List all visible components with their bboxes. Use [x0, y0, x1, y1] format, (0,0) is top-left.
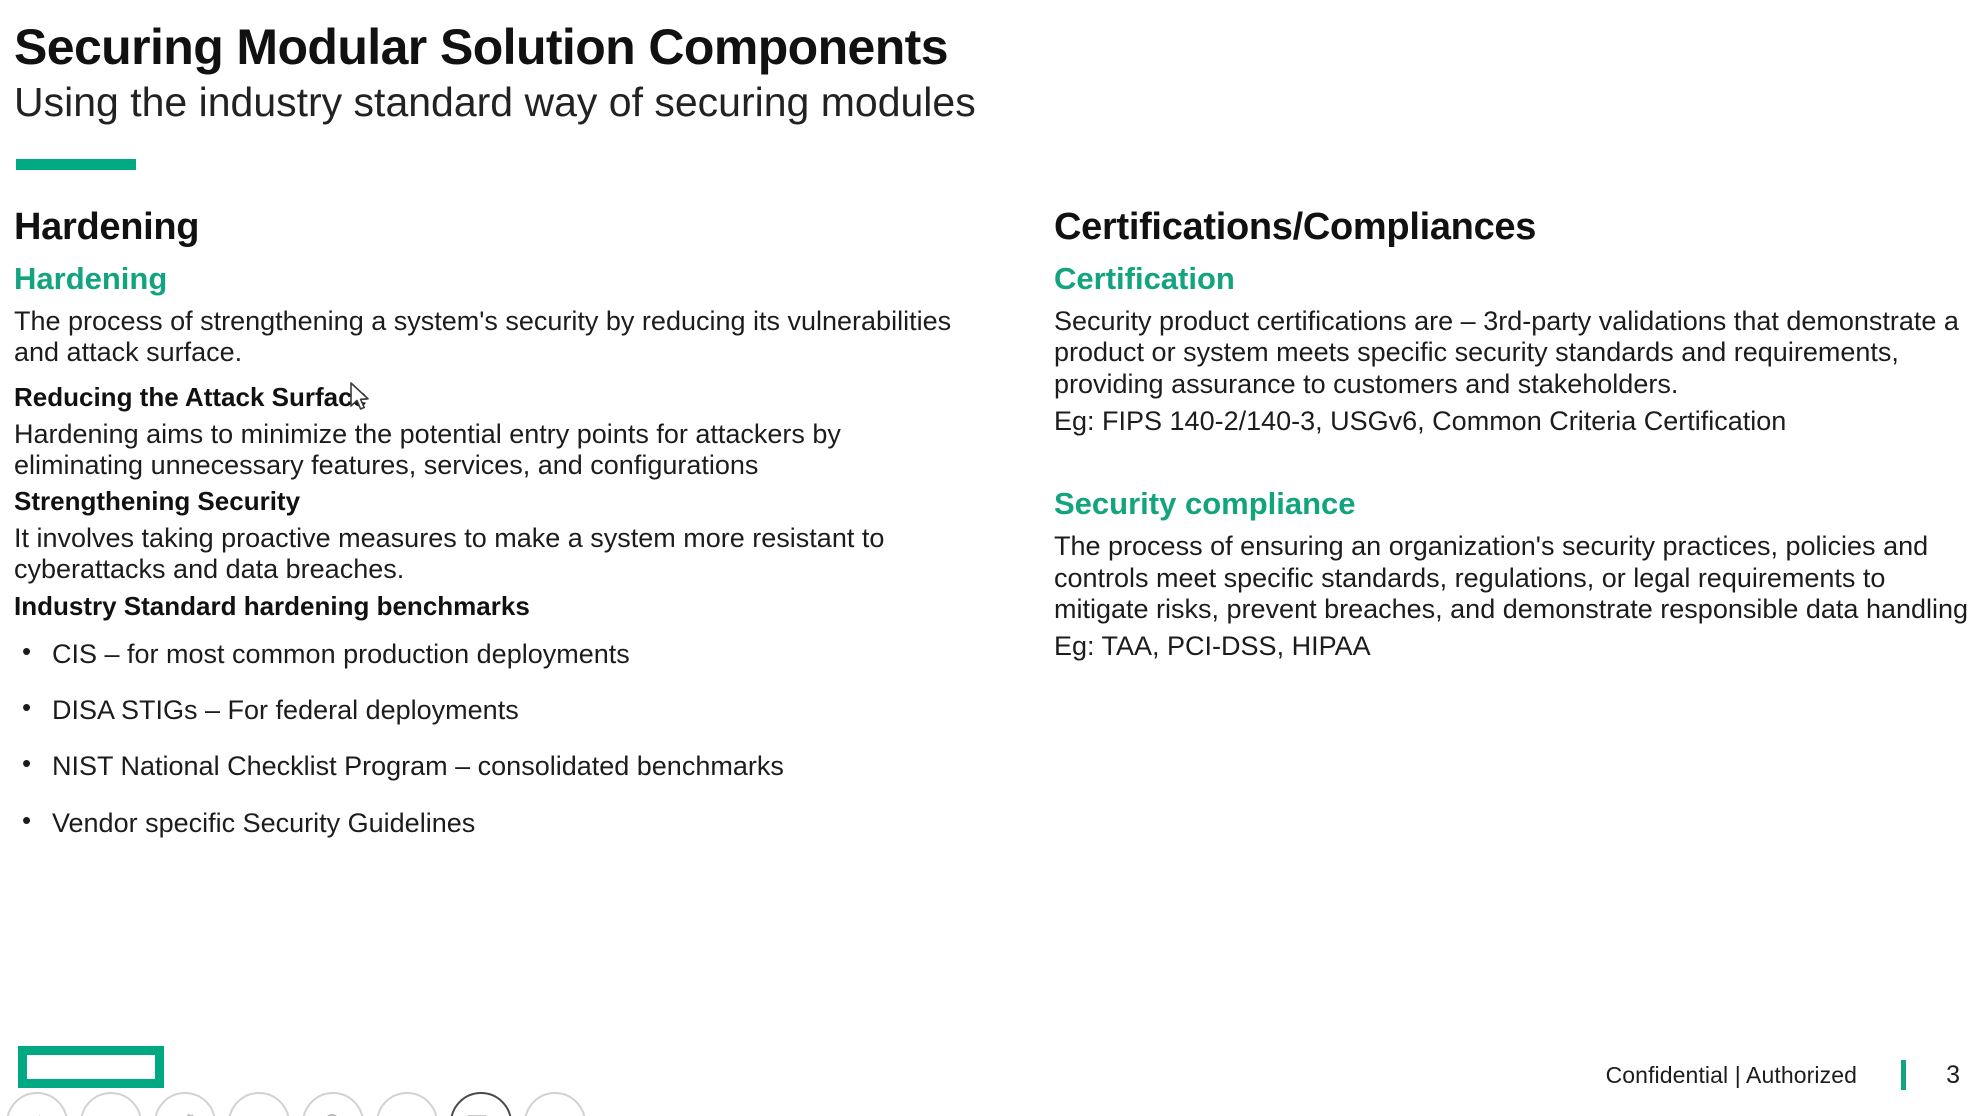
reducing-attack-surface-heading: Reducing the Attack Surface	[14, 383, 974, 413]
subtitles-icon[interactable]	[376, 1092, 438, 1116]
strengthening-security-description: It involves taking proactive measures to…	[14, 523, 974, 586]
certification-example: Eg: FIPS 140-2/140-3, USGv6, Common Crit…	[1054, 406, 1980, 437]
footer: Confidential | Authorized 3	[1606, 1060, 1960, 1090]
list-item: NIST National Checklist Program – consol…	[14, 750, 974, 782]
right-column: Certifications/Compliances Certification…	[1054, 208, 1980, 663]
list-item: CIS – for most common production deploym…	[14, 638, 974, 670]
page-number: 3	[1940, 1061, 1960, 1090]
left-column: Hardening Hardening The process of stren…	[14, 208, 974, 863]
page-title: Securing Modular Solution Components	[14, 20, 1914, 74]
compliance-example: Eg: TAA, PCI-DSS, HIPAA	[1054, 631, 1980, 662]
compliance-description: The process of ensuring an organization'…	[1054, 531, 1980, 625]
accent-bar	[16, 159, 136, 170]
zoom-magnifier-icon[interactable]	[302, 1092, 364, 1116]
pen-annotation-icon[interactable]	[154, 1092, 216, 1116]
certification-description: Security product certifications are – 3r…	[1054, 306, 1980, 400]
compliance-green-heading: Security compliance	[1054, 487, 1980, 521]
reducing-attack-surface-description: Hardening aims to minimize the potential…	[14, 419, 974, 482]
left-column-heading: Hardening	[14, 208, 974, 248]
previous-slide-icon[interactable]	[6, 1092, 68, 1116]
strengthening-security-heading: Strengthening Security	[14, 487, 974, 517]
benchmarks-list: CIS – for most common production deploym…	[14, 638, 974, 840]
presenter-view-icon[interactable]	[450, 1092, 512, 1116]
list-item: DISA STIGs – For federal deployments	[14, 694, 974, 726]
certification-green-heading: Certification	[1054, 262, 1980, 296]
confidential-label: Confidential | Authorized	[1606, 1062, 1857, 1089]
presentation-slide: Securing Modular Solution Components Usi…	[0, 0, 1980, 1116]
hardening-green-heading: Hardening	[14, 262, 974, 296]
more-options-icon[interactable]	[524, 1092, 586, 1116]
slide-grid-icon[interactable]	[228, 1092, 290, 1116]
footer-divider	[1901, 1060, 1906, 1090]
page-subtitle: Using the industry standard way of secur…	[14, 80, 1914, 126]
hardening-description: The process of strengthening a system's …	[14, 306, 974, 369]
play-pointer-icon[interactable]	[80, 1092, 142, 1116]
column-spacer	[1054, 437, 1980, 487]
slide-header: Securing Modular Solution Components Usi…	[14, 20, 1914, 126]
right-column-heading: Certifications/Compliances	[1054, 208, 1980, 248]
presenter-toolbar[interactable]	[6, 1092, 586, 1116]
benchmarks-heading: Industry Standard hardening benchmarks	[14, 592, 974, 622]
list-item: Vendor specific Security Guidelines	[14, 807, 974, 839]
hpe-logo	[18, 1046, 164, 1088]
